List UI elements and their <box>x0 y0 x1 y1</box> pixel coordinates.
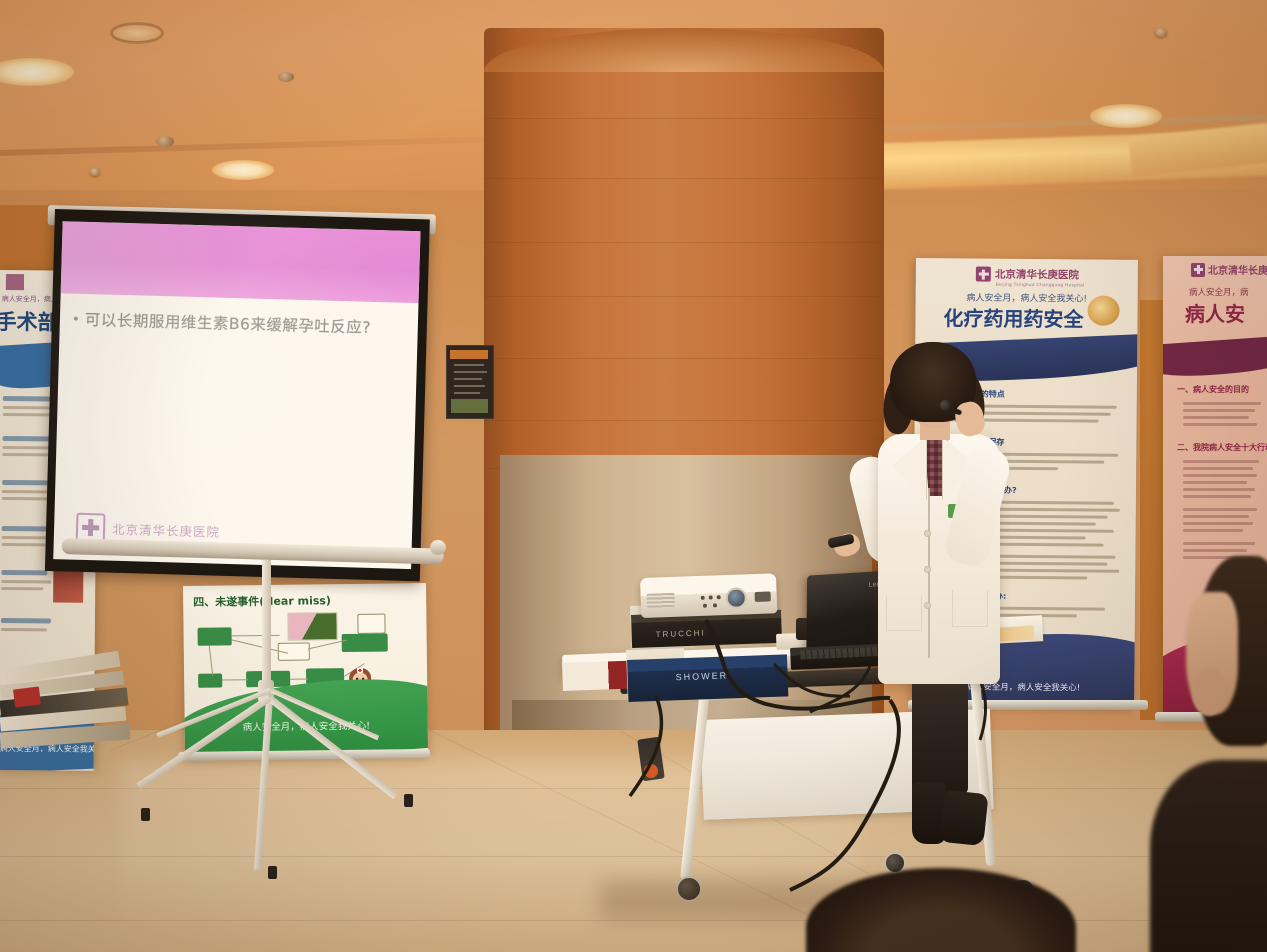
presenter-coat-pocket-right <box>952 590 988 627</box>
presenter-boot-right <box>939 790 988 846</box>
poster-left-photo-2 <box>53 570 83 602</box>
coat-button <box>924 566 931 573</box>
hospital-logo: 北京清华长庚医院 <box>1191 262 1267 277</box>
coat-button <box>924 530 931 537</box>
hospital-cross-logo-icon <box>1191 263 1205 277</box>
slide-bullet-row: 可以长期服用维生素B6来缓解孕吐反应? <box>74 308 404 339</box>
sprinkler-head-icon <box>90 168 100 176</box>
smoke-detector-icon <box>278 72 294 82</box>
presenter-coat-placket <box>928 488 930 658</box>
audience-member-right-body <box>1150 760 1267 952</box>
smoke-detector-icon <box>156 136 174 147</box>
slide-bullet-text: 可以长期服用维生素B6来缓解孕吐反应? <box>85 308 372 338</box>
banner-pink-logo-text: 北京清华长庚医院 <box>1208 262 1267 277</box>
banner-blue-logo-sub: Beijing Tsinghua Changgung Hospital <box>996 282 1085 288</box>
screen-roller-knob[interactable] <box>430 540 446 555</box>
tripod-foot <box>404 794 413 807</box>
projected-slide: 可以长期服用维生素B6来缓解孕吐反应? 北京清华长庚医院 <box>53 221 420 569</box>
recessed-downlight-icon <box>212 160 274 180</box>
slide-logo-text: 北京清华长庚医院 <box>112 519 221 541</box>
hospital-cross-logo-icon <box>976 267 991 282</box>
sprinkler-head-icon <box>1155 28 1167 37</box>
ring-light-icon <box>110 22 164 44</box>
hospital-logo: 北京清华长庚医院 <box>976 267 1079 283</box>
stacked-books <box>0 650 130 770</box>
poster-green-photo <box>287 612 337 641</box>
banner-blue-logo-text: 北京清华长庚医院 <box>995 267 1079 283</box>
banner-pink-section-2: 二、我院病人安全十大行动 <box>1177 442 1267 453</box>
tripod-foot <box>268 866 277 879</box>
tripod-foot <box>141 808 150 821</box>
banner-pink-title: 病人安 <box>1185 298 1245 327</box>
banner-pink-kicker: 病人安全月，病 <box>1189 286 1249 298</box>
slide-header-band <box>61 221 421 303</box>
microphone-icon[interactable] <box>940 400 950 411</box>
bullet-icon <box>74 317 78 321</box>
projection-screen[interactable]: 可以长期服用维生素B6来缓解孕吐反应? 北京清华长庚医院 <box>45 209 430 581</box>
photo-scene: 病人安全月，病人安全我关心! 手术部位 病人安全月，病人安全我关心! <box>0 0 1267 952</box>
decorative-flower-icon <box>1087 295 1119 325</box>
banner-pink-wave <box>1163 334 1267 379</box>
coat-button <box>924 602 931 609</box>
column-directory-sign[interactable] <box>446 345 494 419</box>
tripod-post <box>262 560 271 690</box>
presenter-trousers <box>912 674 968 794</box>
presenter <box>860 338 1030 858</box>
recessed-downlight-icon <box>1090 104 1162 128</box>
banner-pink-section-1: 一、病人安全的目的 <box>1177 384 1249 395</box>
audience-member-right-ear <box>1192 668 1226 716</box>
banner-blue-title: 化疗药用药安全 <box>915 302 1111 333</box>
presenter-coat-pocket-left <box>886 596 922 631</box>
